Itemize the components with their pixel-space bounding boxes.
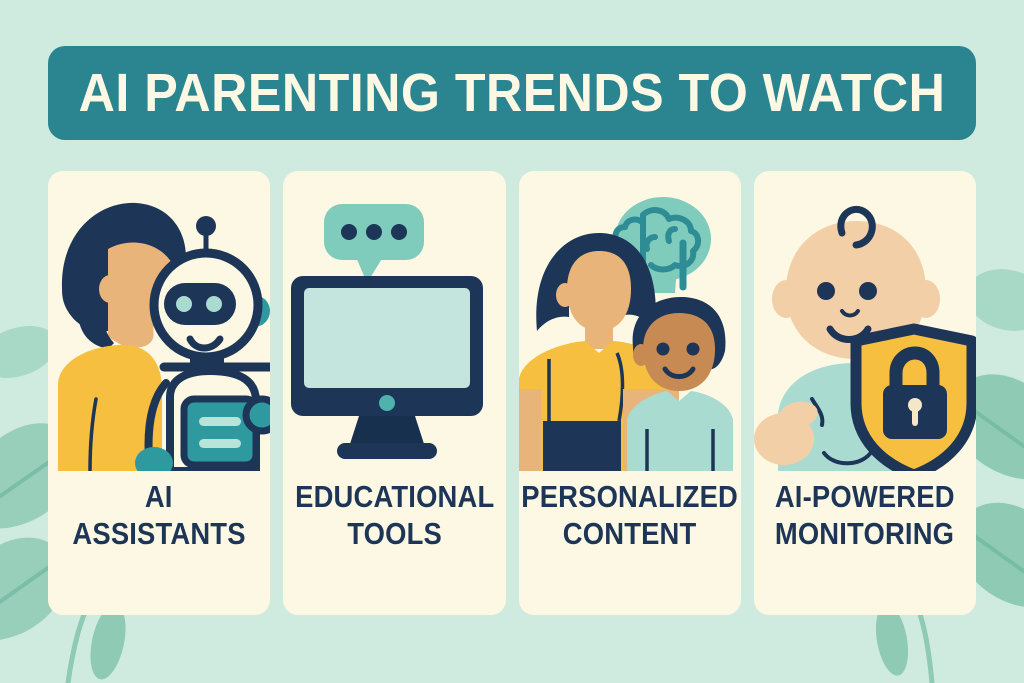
speech-bubble (324, 204, 424, 283)
woman-ear (556, 283, 574, 307)
robot-eye-right (206, 296, 222, 312)
monitor-stand-base (337, 443, 437, 459)
parent-child-brain-illustration (519, 171, 741, 471)
robot-eye-left (176, 296, 192, 312)
card-educational-tools[interactable]: EDUCATIONAL TOOLS (283, 171, 505, 615)
woman-ear (99, 275, 121, 303)
monitor-with-child-illustration (283, 171, 505, 471)
card-label-ai-powered-monitoring: AI-POWERED MONITORING (754, 471, 976, 615)
card-label-line1: AI (145, 479, 173, 516)
mother-and-robot-illustration (48, 171, 270, 471)
card-label-line2: MONITORING (775, 516, 954, 553)
baby-eye-right (859, 282, 877, 300)
speech-dot (341, 224, 357, 240)
woman-face (567, 251, 631, 331)
baby-ear-right (912, 280, 940, 318)
child-shirt (627, 391, 733, 471)
child-eye-right (686, 343, 699, 356)
card-personalized-content[interactable]: PERSONALIZED CONTENT (519, 171, 741, 615)
robot-antenna-ball (196, 216, 216, 236)
card-ai-powered-monitoring[interactable]: AI-POWERED MONITORING (754, 171, 976, 615)
robot-chest-bar-bottom (199, 439, 241, 448)
card-label-line1: AI-POWERED (775, 479, 955, 516)
shield (856, 329, 972, 471)
monitor-stand-neck (349, 416, 425, 447)
card-label-line1: EDUCATIONAL (295, 479, 494, 516)
child-ear (633, 344, 649, 366)
infographic-canvas: AI PARENTING TRENDS TO WATCH (0, 0, 1024, 683)
baby-ear-left (772, 280, 800, 318)
monitor (291, 276, 483, 459)
robot-chest-bar-top (199, 417, 241, 426)
robot-shoulder-joint-right (246, 399, 270, 431)
baby-eye-left (817, 282, 835, 300)
child-eye-left (656, 343, 669, 356)
monitor-screen (304, 288, 470, 388)
card-label-ai-assistants: AI ASSISTANTS (48, 471, 270, 615)
child-face (643, 313, 715, 391)
card-label-line2: TOOLS (347, 516, 442, 553)
baby-with-shield-illustration (754, 171, 976, 471)
card-label-personalized-content: PERSONALIZED CONTENT (519, 471, 741, 615)
trend-cards-row: AI ASSISTANTS (48, 171, 976, 615)
card-label-line1: PERSONALIZED (521, 479, 738, 516)
robot-visor (164, 283, 236, 325)
title-banner: AI PARENTING TRENDS TO WATCH (48, 46, 976, 140)
page-title: AI PARENTING TRENDS TO WATCH (79, 66, 946, 120)
woman-pants-overlap (543, 421, 621, 471)
speech-dot (366, 224, 382, 240)
monitor-power-led (379, 395, 395, 411)
woman-forearm-left (519, 389, 541, 471)
card-ai-assistants[interactable]: AI ASSISTANTS (48, 171, 270, 615)
card-label-educational-tools: EDUCATIONAL TOOLS (283, 471, 505, 615)
card-label-line2: CONTENT (563, 516, 697, 553)
card-label-line2: ASSISTANTS (73, 516, 246, 553)
speech-dot (391, 224, 407, 240)
